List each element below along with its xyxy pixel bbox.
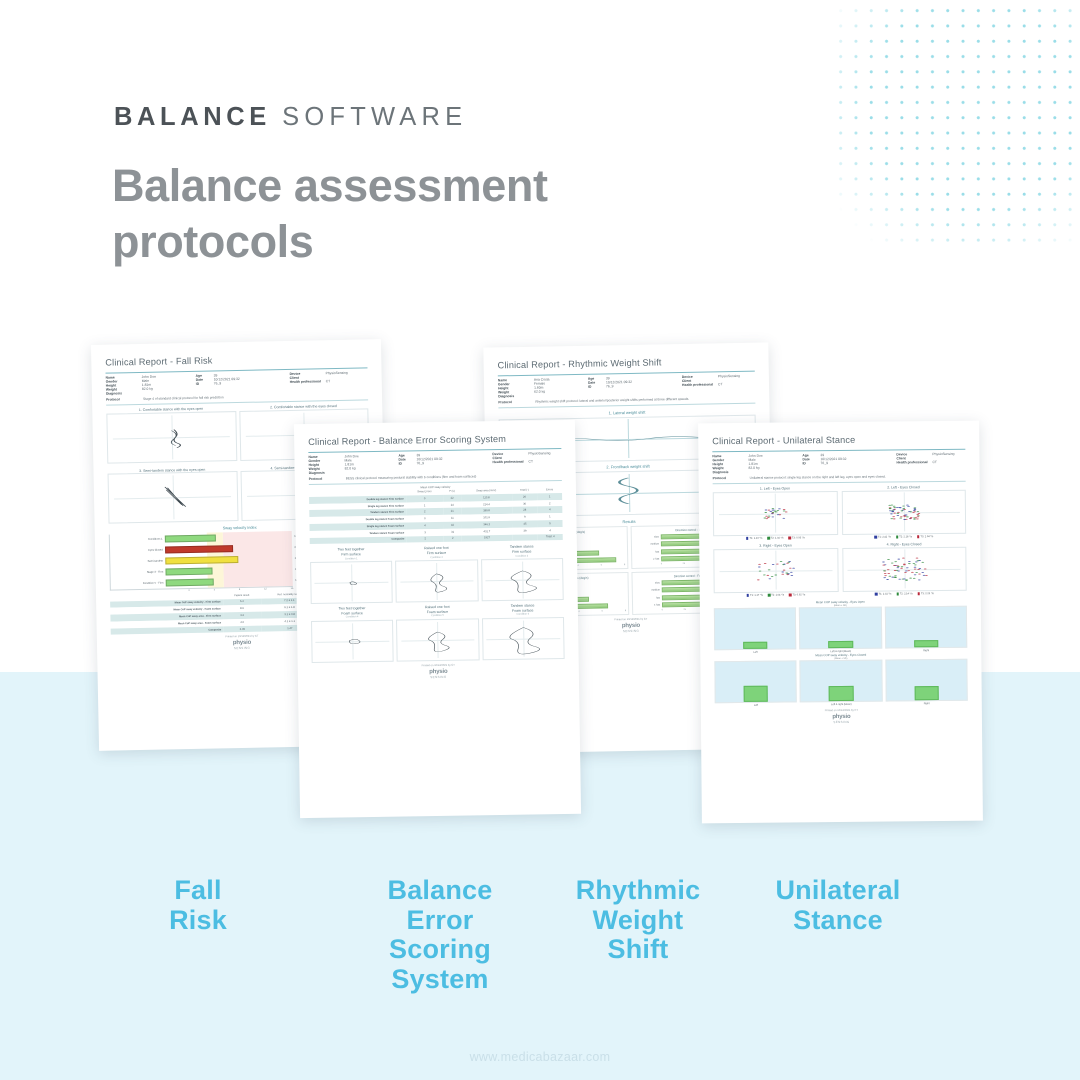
brand-logo: physio SENSING <box>312 667 565 681</box>
patient-info: Name John Doe Age 39 Device PhysioSensin… <box>712 451 965 473</box>
unilateral-cop-grid: 1. Left - Eyes OpenT1: 1.13 °/sT2: 1.02 … <box>713 485 967 598</box>
velocity-chart-cell: Left & right (Mean) <box>800 660 883 706</box>
cop-plot <box>396 618 479 661</box>
value-protocol: Unilateral stance protocol: single leg s… <box>750 474 886 480</box>
bar-category-label: fast <box>634 550 661 553</box>
report-card-unilateral-stance[interactable]: Clinical Report - Unilateral Stance Name… <box>698 421 983 824</box>
protocol-label-line: Shift <box>547 935 729 965</box>
velocity-chart-cell: Right <box>885 606 968 652</box>
velocity-chart-cell: Left <box>714 660 797 706</box>
bar-category-label: v. fast <box>635 604 662 607</box>
x-tick: 25 <box>683 563 685 565</box>
bess-cop-cell: Two feet togetherFirm surfaceCondition 1 <box>310 547 393 604</box>
value-protocol: Rhythmic weight shift protocol: lateral … <box>535 396 689 403</box>
bess-cop-grid: Two feet togetherFirm surfaceCondition 1… <box>310 544 565 663</box>
velocity-plot <box>799 607 882 650</box>
brand-eyebrow: BALANCE SOFTWARE <box>114 103 467 132</box>
x-tick: 8 <box>624 564 625 566</box>
label-diagnosis: Diagnosis <box>309 470 343 475</box>
bar-chart-row: Condition 5 - Firm <box>111 575 294 590</box>
bar-category-label: slow <box>634 535 661 538</box>
cop-caption: Raised one footFirm surfaceCondition 2 <box>395 546 478 561</box>
brand-bold-word: BALANCE <box>114 103 271 131</box>
brand-light-word: SOFTWARE <box>282 103 467 131</box>
x-tick: 16 <box>291 587 294 590</box>
protocol-label-line: Balance <box>355 876 525 906</box>
patient-info: Name John Doe Age 39 Device PhysioSensin… <box>106 370 368 395</box>
protocol-label-line: Error <box>355 906 525 936</box>
protocol-label-line: System <box>355 965 525 995</box>
unilateral-cop-cell: 3. Right - Eyes OpenT1: 1.17 °/sT2: 1.04… <box>713 543 838 597</box>
x-tick: 4 <box>577 565 578 567</box>
bar-category-label: Condition 5 - Firm <box>111 581 166 585</box>
cop-scatter-plot <box>841 489 966 534</box>
protocol-label-line: Stance <box>740 906 936 936</box>
bar-category-label: medium <box>634 543 661 546</box>
table-row-label: Composite <box>310 536 407 544</box>
cop-caption: Tandem stanceFirm surfaceCondition 3 <box>481 544 564 559</box>
cop-legend: T1: 1.13 °/sT2: 1.02 °/sT3: 0.93 °/s <box>713 536 838 540</box>
cop-legend: T1: 2.31 °/sT2: 2.14 °/sT3: 2.23 °/s <box>842 592 967 596</box>
velocity-plot <box>800 660 883 703</box>
x-tick: 8 <box>239 588 240 591</box>
velocity-chart-cell: Left & right (Mean) <box>799 607 882 653</box>
bess-cop-cell: Tandem stanceFoam surfaceCondition 6 <box>481 603 564 660</box>
cop-legend: T1: 1.17 °/sT2: 1.04 °/sT3: 0.92 °/s <box>714 593 839 597</box>
bar-category-label: Semi-tandem <box>110 559 165 563</box>
bar <box>165 556 239 564</box>
x-tick: 6 <box>601 564 602 566</box>
x-tick: 0 <box>662 609 663 611</box>
velocity-chart-group: Mean COP sway velocity - Eyes Open(Mean … <box>714 599 967 654</box>
label-diagnosis: Diagnosis <box>498 393 532 398</box>
report-title: Clinical Report - Fall Risk <box>105 352 367 369</box>
bess-cop-cell: Two feet togetherFoam surfaceCondition 4 <box>311 606 394 663</box>
bar-category-label: Stage 3 - Firm <box>111 570 166 574</box>
bar-category-label: Left & right (Mean) <box>800 702 882 706</box>
bar-category-label: Right <box>885 701 967 705</box>
bess-cop-cell: Raised one footFoam surfaceCondition 5 <box>396 604 479 661</box>
brand-logo: physio SENSING <box>715 712 968 724</box>
patient-info: Name Ana Costa Age 39 Device PhysioSensi… <box>498 373 755 398</box>
x-tick: 12 <box>264 587 267 590</box>
bar-category-label: medium <box>635 589 662 592</box>
dot-pattern-decoration <box>830 0 1080 250</box>
legend-entry: T3: 2.23 °/s <box>918 592 934 595</box>
bar <box>914 641 938 648</box>
velocity-plot <box>714 608 797 651</box>
x-tick: 0 <box>661 563 662 565</box>
legend-entry: T1: 1.17 °/s <box>747 594 763 597</box>
protocol-label-unilateral: UnilateralStance <box>740 876 936 935</box>
bess-table: Sway ErrorsP (s)Sway area (mm²)Total (-)… <box>309 487 563 544</box>
cop-plot <box>108 471 238 524</box>
table-cell: 2 <box>444 535 461 542</box>
x-tick: 4 <box>214 588 215 591</box>
bar-category-label: slow <box>635 581 662 584</box>
label-protocol: Protocol <box>106 396 140 401</box>
protocol-label-line: Fall <box>118 876 278 906</box>
protocol-label-line: Unilateral <box>740 876 936 906</box>
cop-caption: Tandem stanceFoam surfaceCondition 6 <box>481 603 564 618</box>
table-cell: Total: 4 <box>538 534 563 541</box>
bar <box>165 578 214 586</box>
cop-legend: T1: 2.41 °/sT2: 2.18 °/sT3: 2.04 °/s <box>842 535 967 539</box>
protocol-label-line: Rhythmic <box>547 876 729 906</box>
report-card-balance-error-scoring-system[interactable]: Clinical Report - Balance Error Scoring … <box>294 420 581 818</box>
protocol-label-line: Risk <box>118 906 278 936</box>
legend-entry: T1: 1.13 °/s <box>746 537 762 540</box>
cop-plot <box>310 561 393 604</box>
table-cell: 2 <box>406 535 444 542</box>
patient-info: Name John Doe Age 39 Device PhysioSensin… <box>308 451 561 475</box>
cop-scatter-plot <box>713 491 838 536</box>
bess-cop-cell: Raised one footFirm surfaceCondition 2 <box>395 546 478 603</box>
unilateral-velocity-charts: Mean COP sway velocity - Eyes Open(Mean … <box>714 599 968 707</box>
protocol-label-bess: BalanceErrorScoringSystem <box>355 876 525 994</box>
value-protocol: BESS clinical protocol measuring postura… <box>346 474 477 481</box>
cop-plot <box>482 617 565 660</box>
velocity-chart-group: Mean COP sway velocity - Eyes Closed(Mea… <box>714 652 967 707</box>
cop-caption: Raised one footFoam surfaceCondition 5 <box>396 604 479 619</box>
bar-category-label: Conditions 1 <box>110 537 165 541</box>
legend-entry: T3: 2.04 °/s <box>917 535 933 538</box>
cop-caption: Two feet togetherFoam surfaceCondition 4 <box>311 606 394 621</box>
value-diagnosis <box>749 469 801 473</box>
cop-caption: Two feet togetherFirm surfaceCondition 1 <box>310 547 393 562</box>
legend-entry: T2: 2.14 °/s <box>896 593 912 596</box>
velocity-chart-cell: Right <box>885 659 968 705</box>
bar-category-label: Left <box>715 703 797 707</box>
protocol-label-row: FallRisk BalanceErrorScoringSystem Rhyth… <box>0 872 1080 1012</box>
report-title: Clinical Report - Rhythmic Weight Shift <box>498 356 755 372</box>
protocol-label-fall-risk: FallRisk <box>118 876 278 935</box>
bar <box>165 534 216 542</box>
cop-plot <box>106 411 236 464</box>
x-tick: 0 <box>188 589 189 592</box>
legend-entry: T3: 0.93 °/s <box>789 537 805 540</box>
table-row-label: Composite <box>111 626 224 635</box>
bar-category-label: Eyes Closed <box>110 548 165 552</box>
fall-risk-bar-chart: Conditions 1Eyes ClosedSemi-tandemStage … <box>109 531 293 591</box>
x-tick: 8 <box>625 610 626 612</box>
x-tick: 4 <box>578 611 579 613</box>
legend-entry: T2: 1.04 °/s <box>768 594 784 597</box>
bar <box>914 686 938 700</box>
protocol-label-line: Weight <box>547 906 729 936</box>
cop-scatter-plot <box>713 548 838 593</box>
report-title: Clinical Report - Unilateral Stance <box>712 434 965 448</box>
bar <box>829 641 853 648</box>
velocity-plot <box>885 606 968 649</box>
value-diagnosis <box>534 392 586 397</box>
label-diagnosis: Diagnosis <box>713 469 747 473</box>
table-cell: 6.05 <box>223 625 261 633</box>
bar-category-label: v. fast <box>634 558 661 561</box>
velocity-chart-cell: Left <box>714 608 797 654</box>
velocity-plot <box>885 659 968 702</box>
cop-plot <box>311 620 394 663</box>
bar <box>744 686 768 702</box>
cop-scatter-plot <box>842 547 967 592</box>
velocity-plot <box>714 660 797 703</box>
label-protocol: Protocol <box>309 476 343 481</box>
legend-entry: T1: 2.41 °/s <box>875 536 891 539</box>
x-tick: 6 <box>602 610 603 612</box>
bar-category-label: fast <box>635 596 662 599</box>
table-cell: 1927 <box>461 534 512 542</box>
unilateral-cop-cell: 2. Left - Eyes ClosedT1: 2.41 °/sT2: 2.1… <box>841 485 966 539</box>
cop-plot <box>481 558 564 601</box>
cop-plot <box>395 559 478 602</box>
legend-entry: T2: 2.18 °/s <box>896 535 912 538</box>
x-tick: 25 <box>683 609 685 611</box>
value-protocol: Stage 4 of standard clinical protocol fo… <box>143 395 224 401</box>
bar-track <box>165 575 293 589</box>
poster-canvas: BALANCE SOFTWARE Balance assessment prot… <box>0 0 1080 1080</box>
legend-entry: T2: 1.02 °/s <box>767 537 783 540</box>
protocol-label-rws: RhythmicWeightShift <box>547 876 729 965</box>
watermark: www.medicabazaar.com <box>0 1050 1080 1064</box>
protocol-label-line: Scoring <box>355 935 525 965</box>
legend-entry: T3: 0.92 °/s <box>789 594 805 597</box>
label-protocol: Protocol <box>713 475 747 480</box>
page-title: Balance assessment protocols <box>112 158 712 270</box>
legend-entry: T1: 2.31 °/s <box>875 593 891 596</box>
unilateral-cop-cell: 4. Right - Eyes ClosedT1: 2.31 °/sT2: 2.… <box>842 542 967 596</box>
bar <box>829 686 853 701</box>
bar <box>165 567 212 575</box>
unilateral-cop-cell: 1. Left - Eyes OpenT1: 1.13 °/sT2: 1.02 … <box>713 486 838 540</box>
label-protocol: Protocol <box>498 399 532 404</box>
report-title: Clinical Report - Balance Error Scoring … <box>308 433 561 448</box>
bar <box>743 641 767 649</box>
bar <box>165 545 234 553</box>
value-diagnosis <box>345 469 397 474</box>
label-diagnosis: Diagnosis <box>106 390 140 395</box>
bess-cop-cell: Tandem stanceFirm surfaceCondition 3 <box>481 544 564 601</box>
table-cell <box>512 534 537 541</box>
value-diagnosis <box>142 389 194 394</box>
